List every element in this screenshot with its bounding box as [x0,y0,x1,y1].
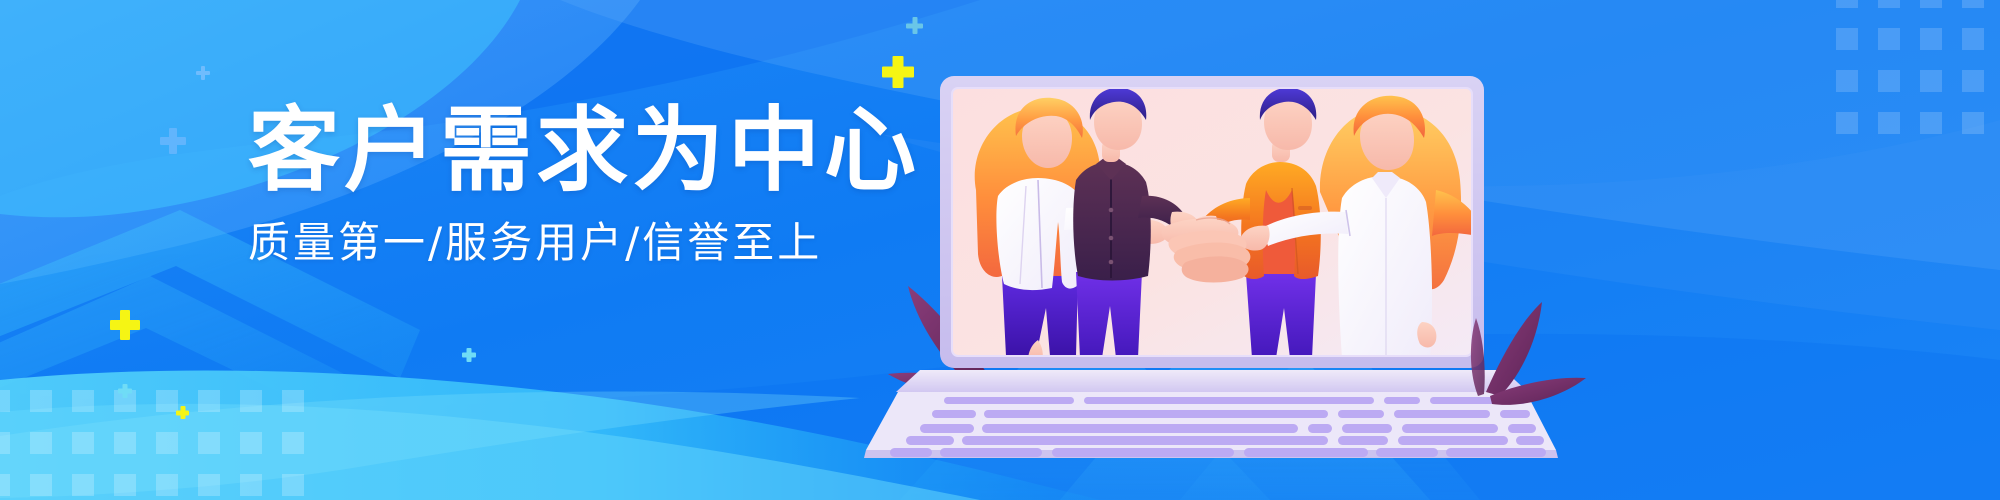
leaf-cluster-right [1471,302,1586,405]
page-title: 客户需求为中心 [248,104,888,198]
key-row-5 [890,448,1546,457]
key-row-1 [944,397,1526,404]
headline-block: 客户需求为中心 质量第一/服务用户/信誉至上 [248,104,888,268]
page-subtitle: 质量第一/服务用户/信誉至上 [248,218,888,268]
key-row-3 [920,424,1536,433]
promo-banner: 客户需求为中心 质量第一/服务用户/信誉至上 [0,0,2000,500]
laptop-hinge [896,370,1528,392]
laptop-team-handstack-illustration [880,40,1680,460]
key-row-2 [932,410,1530,418]
key-row-4 [906,436,1544,445]
